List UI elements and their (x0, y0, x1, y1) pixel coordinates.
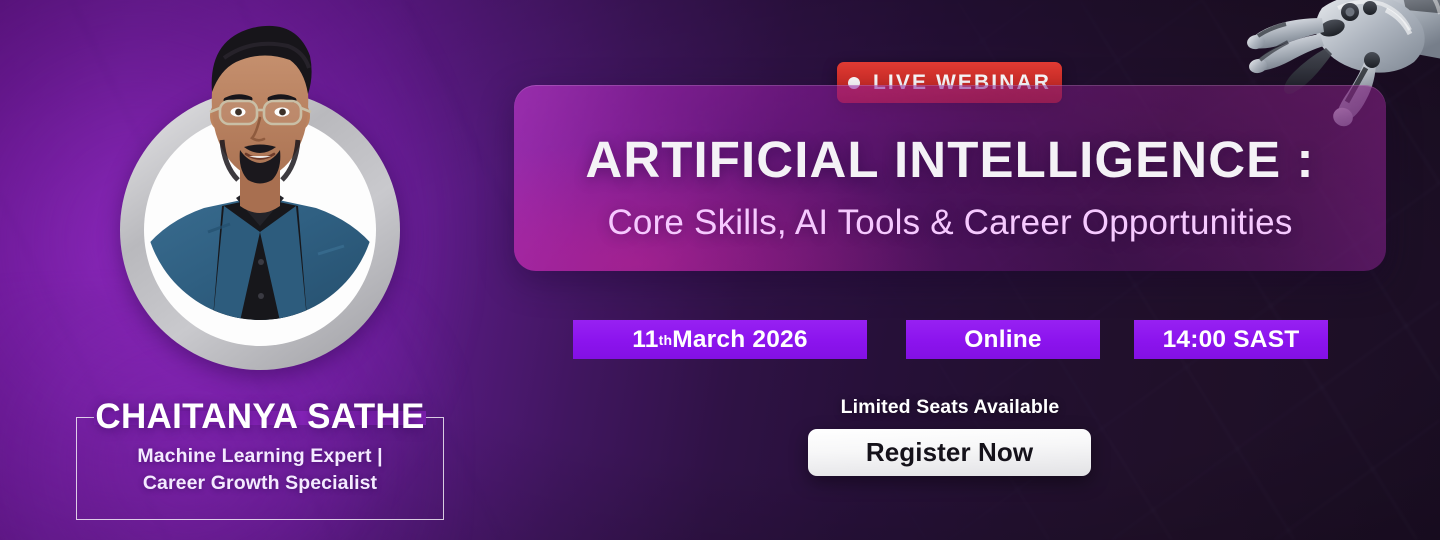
detail-chip-mode: Online (906, 320, 1100, 359)
register-now-button[interactable]: Register Now (808, 429, 1091, 476)
detail-chip-date: 11th March 2026 (573, 320, 867, 359)
limited-seats-note: Limited Seats Available (780, 396, 1120, 419)
speaker-role-line-2: Career Growth Specialist (143, 472, 377, 494)
speaker-block: CHAITANYA SATHE Machine Learning Expert … (60, 30, 460, 500)
date-day: 11 (632, 326, 658, 354)
page-title: ARTIFICIAL INTELLIGENCE : (514, 131, 1386, 189)
page-subtitle: Core Skills, AI Tools & Career Opportuni… (514, 201, 1386, 245)
speaker-nameplate: CHAITANYA SATHE Machine Learning Expert … (76, 395, 444, 520)
avatar (112, 40, 408, 370)
speaker-role-line-1: Machine Learning Expert | (137, 445, 382, 467)
date-rest: March 2026 (672, 326, 807, 354)
speaker-portrait (112, 0, 408, 330)
webinar-banner: CHAITANYA SATHE Machine Learning Expert … (0, 0, 1440, 540)
speaker-name: CHAITANYA SATHE (76, 395, 444, 439)
speaker-role: Machine Learning Expert | Career Growth … (76, 443, 444, 497)
detail-chip-time: 14:00 SAST (1134, 320, 1328, 359)
title-panel: ARTIFICIAL INTELLIGENCE : Core Skills, A… (514, 85, 1386, 271)
event-details: 11th March 2026 Online 14:00 SAST (573, 320, 1328, 360)
